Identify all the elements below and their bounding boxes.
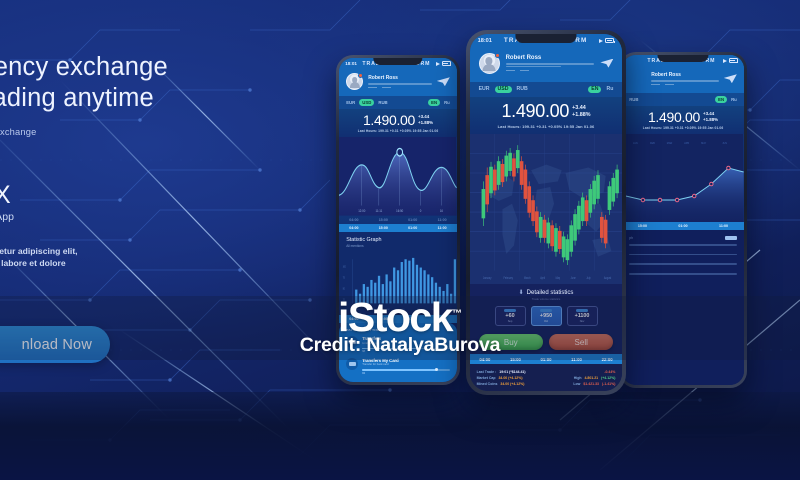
stat-card-value: +1100 — [575, 313, 590, 319]
tick[interactable]: 04:00 — [339, 226, 368, 230]
user-info: Robert Ross — [651, 72, 719, 85]
payment-item-subtitle: Transfer for bank card — [362, 363, 450, 366]
battery-icon — [605, 38, 614, 43]
detailed-statistics-title: Detailed statistics — [527, 290, 574, 296]
user-bar[interactable]: Robert Ross — [339, 69, 457, 96]
phone-notch — [657, 55, 708, 62]
detailed-statistics-header[interactable]: ⬇ Detailed statistics — [479, 289, 614, 296]
last-hours-text: Last Hours: 199.31 +0.31 +0.05% 19:55 Ja… — [629, 126, 737, 130]
lorem-line-2: didunt ut labore et dolore — [0, 257, 262, 269]
stat-value: 34.00 (+4.12%) — [498, 376, 522, 380]
headline-line-1: urrency exchange — [0, 53, 168, 81]
svg-text:16: 16 — [440, 209, 443, 214]
tick[interactable]: 01:00 — [531, 357, 562, 362]
tick[interactable]: 11:00 — [703, 224, 744, 228]
svg-text:NOV: NOV — [432, 310, 436, 312]
currency-selector[interactable]: RUB EN Ru — [622, 93, 744, 106]
card-icon — [346, 336, 358, 348]
payment-percent: 84 — [362, 372, 450, 375]
stat-value: 34.00 (+4.12%) — [500, 382, 524, 386]
payment-slider[interactable] — [362, 348, 450, 350]
stat-extra-key: High — [574, 376, 582, 380]
time-axis-bar-2[interactable]: 04:00 15:00 01:00 11:00 — [339, 315, 457, 323]
signal-icon — [599, 39, 603, 43]
payment-item-transfers[interactable]: Transfers Limit settings 68 — [346, 336, 450, 353]
price-change: +3.44 +1.88% — [418, 114, 433, 125]
price-value: 1.490.00 — [648, 109, 700, 125]
payment-item-transfers-my-card[interactable]: Transfers My Card Transfer for bank card… — [346, 358, 450, 375]
status-time: 18:01 — [345, 61, 357, 66]
stat-key: Last Trade : — [477, 370, 497, 374]
chip-icon — [725, 236, 737, 240]
tick[interactable]: 01:00 — [398, 317, 427, 321]
phone-notch — [515, 34, 576, 43]
phone-left-screen: 18:01 TRADING PLATFORM Robert Ross — [339, 58, 457, 382]
tick: 15:00 — [369, 218, 398, 222]
svg-text:12:00: 12:00 — [358, 209, 365, 214]
price-block: 1.490.00 +3.44 +1.88% Last Hours: 199.31… — [470, 97, 623, 134]
phone-right-screen: 18:01 TRADING PLATFORM Robert Ross — [622, 55, 744, 385]
signal-icon — [436, 62, 440, 66]
user-meta-chips — [651, 84, 719, 85]
list-item[interactable] — [629, 273, 737, 275]
promo-uiux-title: I/UX — [0, 181, 262, 209]
download-arrow-icon: ⬇ — [519, 289, 524, 296]
send-icon[interactable] — [437, 77, 450, 86]
currency-usd-selected[interactable]: USD — [495, 86, 512, 94]
currency-selector[interactable]: EUR USD RUB EN Ru — [470, 82, 623, 98]
user-info: Robert Ross — [506, 55, 595, 71]
table-row: Mined Coins 34.00 (+4.12%) Low $1.421.33… — [477, 382, 616, 386]
svg-text:JUN: JUN — [722, 142, 727, 145]
change-pct: +1.88% — [572, 112, 590, 119]
currency-selector[interactable]: EUR USD RUB EN Ru — [339, 96, 457, 109]
list-item[interactable] — [629, 254, 737, 256]
lang-pill[interactable]: EN — [588, 86, 601, 94]
time-axis-bar[interactable]: 04:00 15:00 01:00 11:00 22:00 — [470, 354, 623, 364]
stat-extra-value: $1.421.33 — [583, 382, 599, 386]
last-hours-text: Last Hours: 199.31 +0.31 +0.05% 19:55 Ja… — [479, 124, 614, 129]
statistic-graph-section: Statistic Graph All mentions — [339, 232, 457, 252]
right-graph-label: ph — [629, 236, 737, 240]
svg-text:25: 25 — [343, 300, 346, 302]
svg-text:MAR: MAR — [372, 308, 376, 311]
avatar[interactable] — [479, 53, 500, 74]
svg-text:April: April — [540, 275, 545, 280]
battery-icon — [442, 61, 451, 66]
buy-button[interactable]: Buy — [479, 334, 543, 350]
svg-text:January: January — [483, 275, 492, 280]
change-abs: +3.44 — [572, 105, 590, 112]
time-axis-bar[interactable]: 04:00 15:00 01:00 11:00 — [339, 224, 457, 232]
send-icon[interactable] — [724, 74, 737, 83]
payment-percent: 68 — [362, 350, 450, 353]
tick[interactable]: 01:00 — [398, 226, 427, 230]
payment-slider[interactable] — [362, 369, 450, 371]
tick[interactable]: 04:00 — [339, 317, 368, 321]
payment-settings-panel: PAYMENT SETTINGS Transfers Limit setting… — [339, 323, 457, 382]
tick[interactable]: 15:00 — [369, 226, 398, 230]
tick: 11:00 — [427, 218, 456, 222]
svg-text:June: June — [570, 275, 575, 280]
tick[interactable]: 01:00 — [663, 224, 704, 228]
tick: 01:00 — [398, 218, 427, 222]
user-name: Robert Ross — [506, 55, 595, 61]
user-meta-line — [368, 83, 432, 84]
price-block: 1.490.00 +3.44 +1.88% Last Hours: 199.31… — [622, 106, 744, 135]
user-meta-line-2 — [506, 66, 561, 67]
headline-line-2: , trading anytime — [0, 83, 262, 114]
svg-text:MAR: MAR — [667, 142, 673, 145]
phone-left: 18:01 TRADING PLATFORM Robert Ross — [336, 55, 460, 385]
svg-text:JUL: JUL — [402, 310, 405, 312]
lang-pill[interactable]: EN — [715, 96, 727, 103]
notification-dot — [495, 53, 500, 58]
price-value: 1.490.00 — [501, 101, 569, 122]
stat-key: Mined Coins — [477, 382, 498, 386]
phone-center: 18:01 TRADING PLATFORM Robert Ross — [466, 30, 626, 395]
svg-text:MAY: MAY — [701, 142, 706, 145]
user-meta-line — [506, 63, 595, 64]
currency-eur[interactable]: EUR — [479, 86, 490, 92]
stat-card-sep[interactable]: +60 Sep — [495, 306, 526, 326]
payment-item-subtitle: Limit settings — [362, 342, 450, 345]
left-statistic-bar-chart[interactable]: 10075 5025 JANMARMAY JULSEPNOV — [339, 251, 457, 314]
svg-text:FEB: FEB — [650, 142, 655, 145]
screenshot-stage: urrency exchange , trading anytime ons f… — [0, 0, 800, 480]
svg-text:0: 0 — [420, 209, 422, 214]
svg-text:50: 50 — [343, 289, 346, 291]
currency-usd-selected[interactable]: USD — [359, 99, 374, 106]
svg-text:11:11: 11:11 — [376, 209, 383, 214]
tick[interactable]: 04:00 — [470, 357, 501, 362]
left-area-chart[interactable]: 12:0011:11 16:50016 — [339, 137, 457, 216]
last-hours-text: Last Hours: 199.31 +0.31 +0.05% 19:55 Ja… — [346, 129, 450, 133]
phone-notch — [373, 58, 422, 65]
trade-actions: Buy Sell — [470, 329, 623, 354]
currency-rub[interactable]: RUB — [629, 97, 638, 102]
currency-rub[interactable]: RUB — [378, 100, 387, 105]
lang-pill[interactable]: EN — [428, 99, 440, 106]
detailed-statistics-subtitle: Trade volume statistics — [479, 297, 614, 301]
stat-card-value: +60 — [505, 313, 514, 319]
market-stats-table: Last Trade : 19:01 (*$144.41) -0.44% Mar… — [470, 364, 623, 391]
lang-alt[interactable]: Ru — [731, 97, 737, 102]
send-icon[interactable] — [600, 59, 613, 68]
stat-value: 19:01 (*$144.41) — [499, 370, 525, 374]
tick[interactable]: 15:00 — [500, 357, 531, 362]
status-icons — [436, 61, 451, 66]
promo-uiux-subtitle: Mobile App — [0, 211, 262, 223]
right-line-chart[interactable]: JANFEBMAR APRMAYJUN — [622, 134, 744, 222]
battery-icon — [729, 58, 738, 63]
table-row: Last Trade : 19:01 (*$144.41) -0.44% — [477, 370, 616, 374]
tick[interactable]: 11:00 — [561, 357, 592, 362]
svg-text:May: May — [555, 275, 560, 280]
svg-text:August: August — [603, 275, 611, 280]
tick: 04:00 — [339, 218, 368, 222]
user-meta-chips — [368, 87, 432, 88]
user-meta-line — [651, 80, 719, 81]
svg-text:July: July — [586, 275, 591, 280]
stat-extra-key: Low — [573, 382, 580, 386]
statistic-graph-title: Statistic Graph — [346, 237, 450, 243]
svg-text:MAY: MAY — [387, 308, 391, 311]
phone-center-screen: 18:01 TRADING PLATFORM Robert Ross — [470, 34, 623, 392]
svg-text:SEP: SEP — [417, 310, 421, 312]
user-meta-chips — [506, 70, 595, 71]
user-name: Robert Ross — [368, 75, 432, 81]
user-info: Robert Ross — [368, 75, 432, 88]
lang-alt[interactable]: Ru — [444, 100, 450, 105]
card-icon — [346, 358, 358, 370]
user-name: Robert Ross — [651, 72, 719, 78]
stat-key: Market Cap — [477, 376, 496, 380]
promo-block: urrency exchange , trading anytime ons f… — [0, 52, 262, 269]
status-time: 18:01 — [478, 38, 492, 44]
stat-card-value: +950 — [540, 313, 552, 319]
payment-item-title: Transfers — [362, 336, 450, 341]
stat-pct: (-1.41%) — [602, 382, 615, 386]
stat-extra-value: 4.801.21 — [584, 376, 598, 380]
promo-lorem: , consectetur adipiscing elit, didunt ut… — [0, 245, 262, 269]
notification-dot — [358, 73, 363, 78]
tick[interactable]: 11:00 — [427, 226, 456, 230]
change-pct: +1.88% — [703, 117, 718, 123]
svg-text:100: 100 — [343, 267, 347, 269]
payment-settings-header: PAYMENT SETTINGS — [346, 328, 450, 332]
lang-alt[interactable]: Ru — [606, 86, 613, 92]
user-bar[interactable]: Robert Ross — [470, 48, 623, 82]
statistic-graph-subtitle: All mentions — [346, 244, 450, 248]
svg-text:February: February — [503, 275, 513, 280]
price-change: +3.44 +1.88% — [572, 105, 590, 118]
svg-text:16:50: 16:50 — [396, 209, 403, 214]
center-candlestick-chart[interactable]: JanuaryFebruary MarchApril MayJune JulyA… — [470, 134, 623, 285]
svg-text:JAN: JAN — [633, 142, 638, 145]
status-icons — [723, 58, 738, 63]
svg-text:75: 75 — [343, 278, 346, 280]
promo-headline: urrency exchange , trading anytime — [0, 52, 262, 114]
time-axis-bar[interactable]: 15:00 01:00 11:00 — [622, 222, 744, 230]
avatar[interactable] — [346, 73, 363, 90]
tick[interactable]: 22:00 — [592, 357, 623, 362]
right-list-section: ph — [622, 230, 744, 385]
currency-eur[interactable]: EUR — [346, 100, 355, 105]
svg-text:JAN: JAN — [357, 308, 360, 311]
card-tab-icon — [576, 309, 588, 311]
lorem-line-1: , consectetur adipiscing elit, — [0, 245, 262, 257]
card-tab-icon — [504, 309, 516, 311]
currency-rub[interactable]: RUB — [517, 86, 528, 92]
list-item[interactable] — [629, 244, 737, 246]
card-tab-icon — [540, 309, 552, 311]
price-change: +3.44 +1.88% — [703, 111, 718, 122]
sell-button[interactable]: Sell — [549, 334, 613, 350]
list-item[interactable] — [629, 263, 737, 265]
stat-pct: (+4.12%) — [601, 376, 615, 380]
svg-text:March: March — [524, 275, 531, 280]
signal-icon — [723, 59, 727, 63]
stat-pct: -0.44% — [604, 370, 615, 374]
download-now-button[interactable]: nload Now — [0, 326, 110, 363]
tick[interactable]: 15:00 — [622, 224, 663, 228]
price-block: 1.490.00 +3.44 +1.88% Last Hours: 199.31… — [339, 109, 457, 138]
change-pct: +1.88% — [418, 120, 433, 126]
stat-card-month: Sep — [508, 320, 513, 323]
tick[interactable]: 11:00 — [427, 317, 456, 321]
phone-right: 18:01 TRADING PLATFORM Robert Ross — [619, 52, 747, 388]
detailed-statistics-section: ⬇ Detailed statistics Trade volume stati… — [470, 284, 623, 329]
stat-card-oct[interactable]: +950 Oct — [531, 306, 562, 326]
table-row: Market Cap 34.00 (+4.12%) High 4.801.21 … — [477, 376, 616, 380]
stat-card-month: Nov — [580, 320, 585, 323]
status-icons — [599, 38, 614, 43]
tick[interactable]: 15:00 — [369, 317, 398, 321]
stat-card-month: Oct — [544, 320, 548, 323]
promo-subtitle: ons for exchange — [0, 127, 262, 137]
svg-text:APR: APR — [684, 142, 689, 145]
stat-cards: +60 Sep +950 Oct +1100 Nov — [479, 306, 614, 326]
time-axis-dim: 04:00 15:00 01:00 11:00 — [339, 216, 457, 224]
user-bar[interactable]: Robert Ross — [622, 66, 744, 93]
stat-card-nov[interactable]: +1100 Nov — [567, 306, 598, 326]
price-value: 1.490.00 — [363, 112, 415, 128]
reflection-floor — [0, 392, 800, 480]
